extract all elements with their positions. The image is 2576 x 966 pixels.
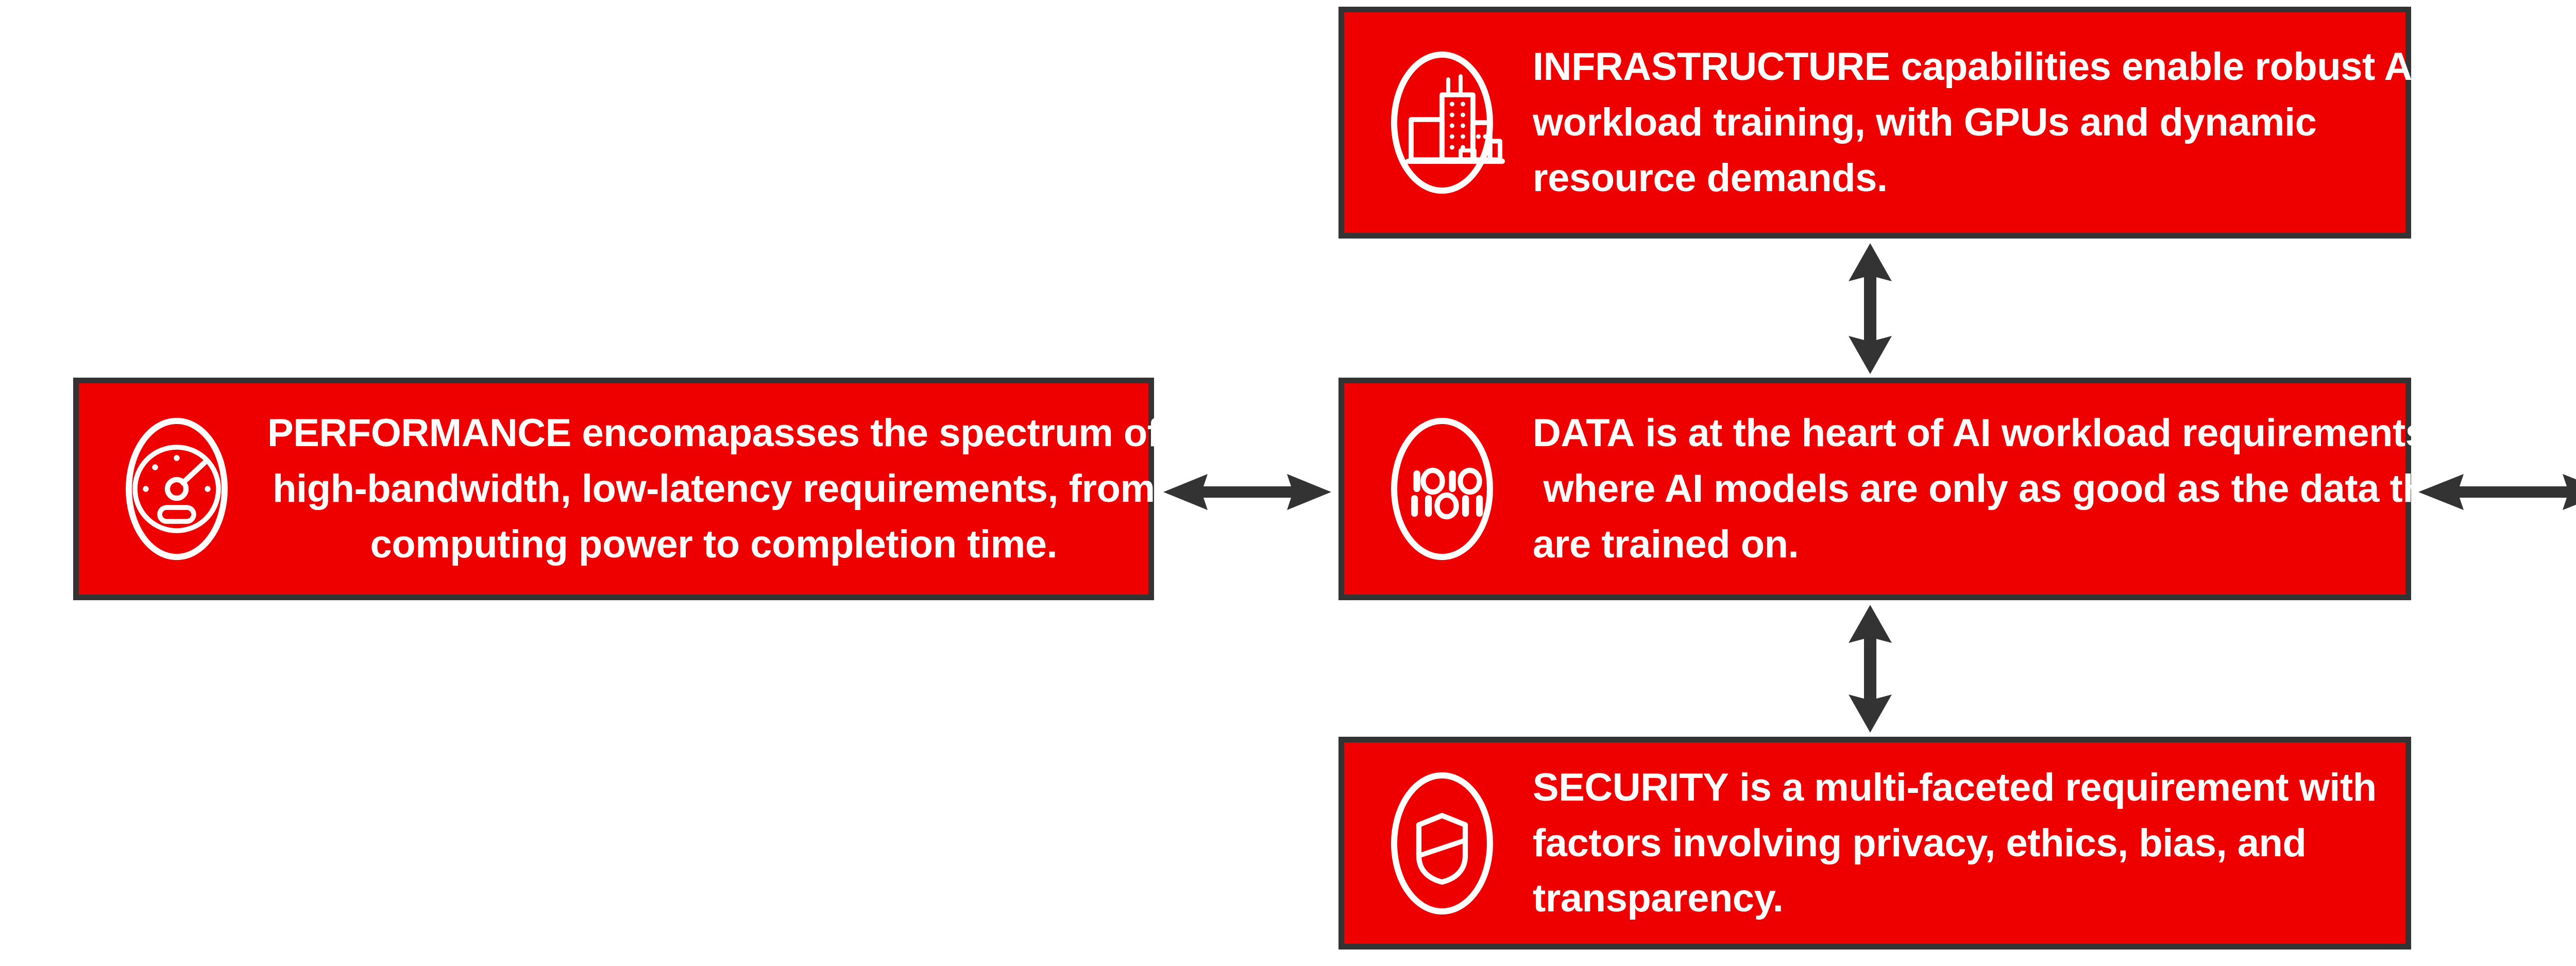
card-data-line-1: is at the heart of AI workload requireme… [1635,411,2437,455]
card-infrastructure-text: INFRASTRUCTURE capabilities enable robus… [1519,39,2446,206]
card-security-line-1: is a multi-faceted requirement with [1728,766,2376,809]
card-data-text: DATA is at the heart of AI workload requ… [1519,405,2492,572]
card-infrastructure-line-3: resource demands. [1533,150,2423,206]
connector-data-scalability [2417,464,2576,520]
card-infrastructure-line-2: workload training, with GPUs and dynamic [1533,95,2423,150]
card-performance-line-1: encomapasses the spectrum of [571,411,1160,455]
gauge-icon [99,412,254,566]
card-security-line-3: transparency. [1533,871,2383,926]
card-data[interactable]: DATA is at the heart of AI workload requ… [1338,378,2411,600]
card-infrastructure-keyword: INFRASTRUCTURE [1533,45,1890,89]
card-security-keyword: SECURITY [1533,766,1728,809]
card-security-line-2: factors involving privacy, ethics, bias,… [1533,816,2383,871]
card-data-keyword: DATA [1533,411,1635,455]
card-data-line-2: where AI models are only as good as the … [1533,461,2469,517]
card-performance-keyword: PERFORMANCE [267,411,571,455]
shield-icon [1365,766,1519,921]
card-security-text: SECURITY is a multi-faceted requirement … [1519,760,2405,927]
card-performance-line-2: high-bandwidth, low-latency requirements… [267,461,1160,517]
connector-data-performance [1162,464,1332,520]
card-infrastructure[interactable]: INFRASTRUCTURE capabilities enable robus… [1338,7,2411,239]
binary-icon [1365,412,1519,566]
card-security[interactable]: SECURITY is a multi-faceted requirement … [1338,737,2411,950]
card-performance-text: PERFORMANCE encomapasses the spectrum of… [254,405,1183,572]
connector-data-security [1834,604,1906,734]
building-icon [1365,45,1519,200]
connector-data-infrastructure [1834,242,1906,375]
card-data-line-3: are trained on. [1533,517,2469,572]
card-infrastructure-line-1: capabilities enable robust AI [1890,45,2423,89]
card-performance[interactable]: PERFORMANCE encomapasses the spectrum of… [73,378,1154,600]
diagram-canvas: INFRASTRUCTURE capabilities enable robus… [0,0,2576,966]
card-performance-line-3: computing power to completion time. [267,517,1160,572]
